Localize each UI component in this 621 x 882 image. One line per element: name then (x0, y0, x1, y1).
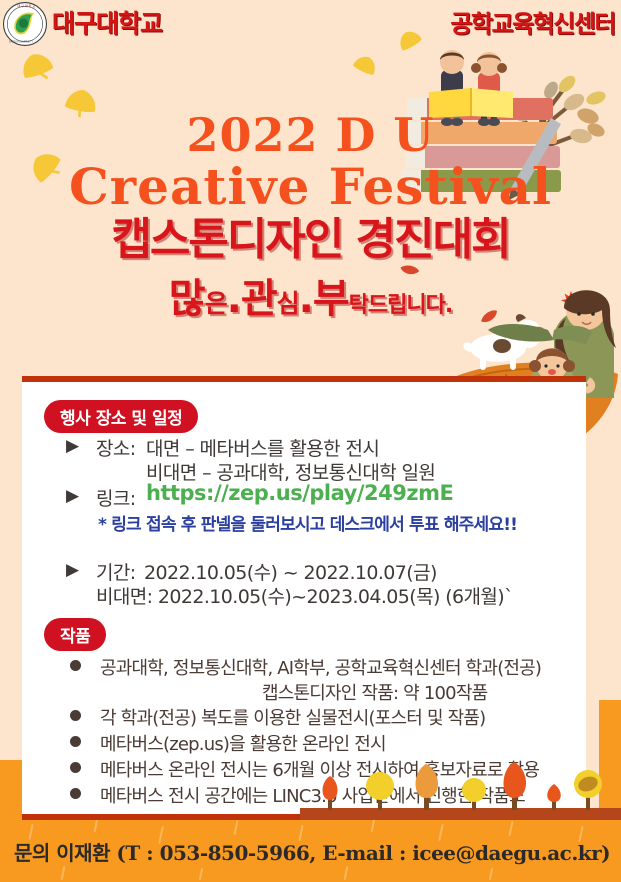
bullet-dot-icon (70, 736, 81, 747)
title4-part-0: 많 (169, 276, 205, 322)
triangle-bullet-icon: ▶ (66, 486, 79, 506)
period-label: 기간: (96, 558, 136, 585)
work-item-0: 공과대학, 정보통신대학, AI학부, 공학교육혁신센터 학과(전공) (100, 654, 541, 680)
svg-text:대 구 대 학 교: 대 구 대 학 교 (17, 3, 35, 8)
title-line-1: 2022 D U (0, 112, 621, 158)
place-label: 장소: (96, 434, 136, 461)
bullet-dot-icon (70, 762, 81, 773)
title4-part-2: . (227, 276, 241, 322)
svg-text:DAEGU UNIVERSITY: DAEGU UNIVERSITY (9, 40, 33, 43)
bullet-dot-icon (70, 710, 81, 721)
poster-root: 대 구 대 학 교 DAEGU UNIVERSITY 대구대학교 공학교육혁신센… (0, 0, 621, 882)
work-item-2: 각 학과(전공) 복도를 이용한 실물전시(포스터 및 작품) (100, 704, 485, 730)
title-line-3-korean: 캡스톤디자인 경진대회 (0, 218, 621, 262)
title4-part-5: . (299, 276, 313, 322)
work-item-5: 메타버스 전시 공간에는 LINC3.0 사업단에서 진행한 작품도 (100, 782, 525, 808)
university-seal-icon: 대 구 대 학 교 DAEGU UNIVERSITY (2, 1, 48, 47)
contact-text: 문의 이재환 (T : 053-850-5966, E-mail : icee@… (14, 837, 610, 866)
title4-part-1: 은 (205, 289, 227, 318)
work-item-4: 메타버스 온라인 전시는 6개월 이상 전시하여 홍보자료로 활용 (100, 756, 539, 782)
event-link[interactable]: https://zep.us/play/249zmE (146, 481, 453, 505)
bullet-dot-icon (70, 660, 81, 671)
title-line-2: Creative Festival (0, 162, 621, 212)
work-item-3: 메타버스(zep.us)을 활용한 온라인 전시 (100, 730, 386, 756)
vote-note: * 링크 접속 후 판넬을 둘러보시고 데스크에서 투표 해주세요!! (98, 510, 517, 535)
title4-part-4: 심 (277, 289, 299, 318)
triangle-bullet-icon: ▶ (66, 560, 79, 580)
period-value-sub: 비대면: 2022.10.05(수)~2023.04.05(목) (6개월)` (96, 582, 513, 609)
title4-part-7: 탁드립니다. (349, 293, 453, 318)
works-pill-label: 작품 (44, 618, 106, 651)
schedule-pill-label: 행사 장소 및 일정 (44, 400, 198, 433)
university-name: 대구대학교 (52, 4, 162, 40)
poster-title-block: 2022 D U Creative Festival 캡스톤디자인 경진대회 많… (0, 112, 621, 324)
bullet-dot-icon (70, 788, 81, 799)
title-line-4-korean: 많은.관심.부탁드립니다. (0, 266, 621, 324)
center-name: 공학교육혁신센터 (450, 4, 615, 39)
place-value: 대면 – 메타버스를 활용한 전시 (146, 434, 379, 461)
footer-bar: 문의 이재환 (T : 053-850-5966, E-mail : icee@… (0, 820, 621, 882)
link-label: 링크: (96, 484, 136, 511)
work-item-1: 캡스톤디자인 작품: 약 100작품 (262, 679, 487, 705)
period-value: 2022.10.05(수) ~ 2022.10.07(금) (144, 558, 437, 585)
triangle-bullet-icon: ▶ (66, 436, 79, 456)
title4-part-6: 부 (313, 276, 349, 322)
title4-part-3: 관 (241, 276, 277, 322)
info-panel: 행사 장소 및 일정 ▶ 장소: 대면 – 메타버스를 활용한 전시 비대면 –… (22, 376, 586, 820)
